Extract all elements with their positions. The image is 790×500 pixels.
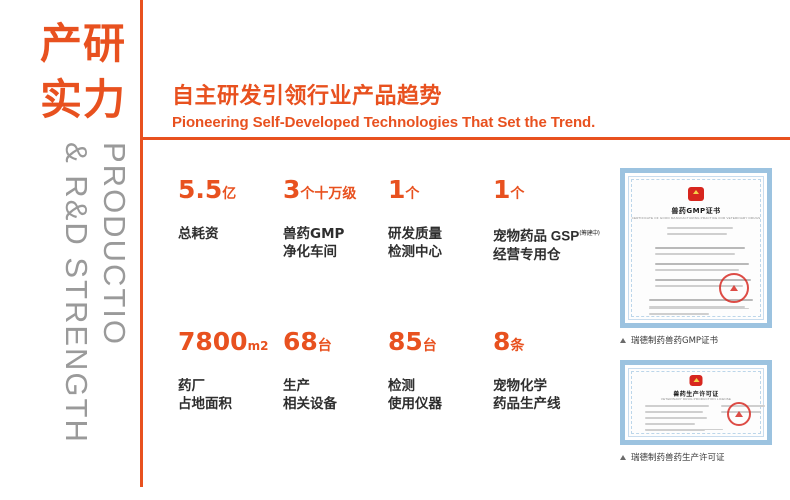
certificate-text-line bbox=[667, 227, 733, 229]
stat-label: 生产 相关设备 bbox=[283, 377, 388, 413]
national-emblem-icon bbox=[688, 187, 704, 201]
certificate-text-line bbox=[667, 233, 727, 235]
section-title-line1: 产研 bbox=[40, 16, 140, 72]
certificate-caption: 瑞德制药兽药生产许可证 bbox=[620, 451, 775, 463]
rail-vertical-divider bbox=[140, 0, 143, 487]
stat-label-line1: 兽药GMP bbox=[283, 225, 388, 243]
stat-label: 研发质量 检测中心 bbox=[388, 225, 493, 261]
triangle-marker-icon bbox=[620, 455, 626, 460]
stat-label-line2: 相关设备 bbox=[283, 395, 388, 413]
stat-item: 68台 生产 相关设备 bbox=[283, 328, 388, 413]
certificate-text-line bbox=[645, 405, 709, 407]
vertical-text-group: PRODUCTIO & R&D STRENGTH bbox=[0, 140, 140, 490]
section-title-line2: 实力 bbox=[40, 72, 140, 128]
stat-number: 1个 bbox=[388, 176, 493, 208]
stat-unit: 台 bbox=[318, 338, 332, 354]
stat-label-line1: 宠物化学 bbox=[493, 377, 598, 395]
stat-label: 药厂 占地面积 bbox=[178, 377, 283, 413]
header-divider bbox=[140, 137, 790, 140]
stat-number: 8条 bbox=[493, 328, 598, 360]
vertical-text-primary: PRODUCTIO bbox=[96, 142, 132, 346]
stat-number: 68台 bbox=[283, 328, 388, 360]
stat-label-line1: 研发质量 bbox=[388, 225, 493, 243]
certificate-block: 兽药生产许可证 VETERINARY DRUG PRODUCTION LICEN… bbox=[620, 360, 775, 463]
stat-item: 85台 检测 使用仪器 bbox=[388, 328, 493, 413]
certificate-image-license[interactable]: 兽药生产许可证 VETERINARY DRUG PRODUCTION LICEN… bbox=[620, 360, 772, 445]
national-emblem-icon bbox=[690, 375, 703, 386]
stat-number: 5.5亿 bbox=[178, 176, 283, 208]
certificate-image-gmp[interactable]: 兽药GMP证书 CERTIFICATE OF GOOD MANUFACTURIN… bbox=[620, 168, 772, 328]
stat-unit: 个 bbox=[405, 186, 419, 202]
stats-row-2: 7800m2 药厂 占地面积 68台 生产 相关设备 85台 检测 使用仪器 bbox=[178, 328, 598, 413]
stat-label-line2: 占地面积 bbox=[178, 395, 283, 413]
stat-item: 1个 宠物药品 GSP(筹建中) 经营专用仓 bbox=[493, 176, 598, 264]
section-title: 产研 实力 bbox=[40, 16, 140, 128]
official-seal-icon bbox=[719, 273, 749, 303]
stat-item: 7800m2 药厂 占地面积 bbox=[178, 328, 283, 413]
certificate-frame: 兽药GMP证书 CERTIFICATE OF GOOD MANUFACTURIN… bbox=[628, 176, 764, 320]
certificate-caption-text: 瑞德制药兽药GMP证书 bbox=[631, 334, 718, 346]
stat-label-superscript: (筹建中) bbox=[579, 230, 599, 237]
certificate-text-line bbox=[655, 263, 749, 265]
certificate-text-line bbox=[645, 417, 707, 419]
stat-item: 3个十万级 兽药GMP 净化车间 bbox=[283, 176, 388, 264]
stat-label-line2: 净化车间 bbox=[283, 243, 388, 261]
stat-label: 总耗资 bbox=[178, 225, 283, 243]
certificate-doc-subtitle: VETERINARY DRUG PRODUCTION LICENSE bbox=[629, 397, 763, 401]
certificate-frame: 兽药生产许可证 VETERINARY DRUG PRODUCTION LICEN… bbox=[628, 368, 764, 437]
certificate-gallery: 兽药GMP证书 CERTIFICATE OF GOOD MANUFACTURIN… bbox=[620, 168, 775, 477]
certificate-caption: 瑞德制药兽药GMP证书 bbox=[620, 334, 775, 346]
stat-label-line1: 宠物药品 GSP(筹建中) bbox=[493, 225, 598, 246]
certificate-text-line bbox=[645, 411, 703, 413]
header-title-cn: 自主研发引领行业产品趋势 bbox=[172, 84, 595, 110]
certificate-text-line bbox=[645, 429, 723, 431]
certificate-text-line bbox=[655, 269, 739, 271]
stat-label-line2: 使用仪器 bbox=[388, 395, 493, 413]
stat-item: 5.5亿 总耗资 bbox=[178, 176, 283, 264]
stat-number: 85台 bbox=[388, 328, 493, 360]
stat-label-line1: 药厂 bbox=[178, 377, 283, 395]
stat-label-line1: 总耗资 bbox=[178, 225, 283, 243]
certificate-doc-subtitle: CERTIFICATE OF GOOD MANUFACTURING PRACTI… bbox=[629, 216, 763, 220]
stat-unit: 个 bbox=[510, 186, 524, 202]
stat-label: 检测 使用仪器 bbox=[388, 377, 493, 413]
certificate-text-line bbox=[655, 253, 735, 255]
stat-unit: 个十万级 bbox=[300, 186, 356, 202]
stat-unit: 台 bbox=[423, 338, 437, 354]
triangle-marker-icon bbox=[620, 338, 626, 343]
stat-number: 3个十万级 bbox=[283, 176, 388, 208]
stats-grid: 5.5亿 总耗资 3个十万级 兽药GMP 净化车间 1个 研发质量 检测中心 bbox=[178, 176, 598, 413]
stat-unit: 条 bbox=[510, 338, 524, 354]
stat-label: 兽药GMP 净化车间 bbox=[283, 225, 388, 261]
stat-unit: 亿 bbox=[222, 186, 236, 202]
certificate-doc-title: 兽药GMP证书 bbox=[629, 206, 763, 216]
header-block: 自主研发引领行业产品趋势 Pioneering Self-Developed T… bbox=[172, 84, 595, 133]
stat-label-line2: 检测中心 bbox=[388, 243, 493, 261]
stats-row-1: 5.5亿 总耗资 3个十万级 兽药GMP 净化车间 1个 研发质量 检测中心 bbox=[178, 176, 598, 264]
certificate-caption-text: 瑞德制药兽药生产许可证 bbox=[631, 451, 725, 463]
stat-label: 宠物药品 GSP(筹建中) 经营专用仓 bbox=[493, 225, 598, 264]
stat-label: 宠物化学 药品生产线 bbox=[493, 377, 598, 413]
page-root: 产研 实力 PRODUCTIO & R&D STRENGTH 自主研发引领行业产… bbox=[0, 0, 790, 500]
stat-label-line1: 检测 bbox=[388, 377, 493, 395]
vertical-text-secondary: & R&D STRENGTH bbox=[58, 142, 94, 444]
stat-label-line2: 药品生产线 bbox=[493, 395, 598, 413]
stat-number: 1个 bbox=[493, 176, 598, 208]
stat-item: 8条 宠物化学 药品生产线 bbox=[493, 328, 598, 413]
stat-item: 1个 研发质量 检测中心 bbox=[388, 176, 493, 264]
official-seal-icon bbox=[727, 402, 751, 426]
certificate-text-line bbox=[645, 423, 695, 425]
stat-label-line2: 经营专用仓 bbox=[493, 246, 598, 264]
stat-unit: m2 bbox=[248, 339, 269, 353]
certificate-text-line bbox=[649, 313, 709, 315]
stat-number: 7800m2 bbox=[178, 328, 283, 360]
certificate-text-line bbox=[655, 247, 745, 249]
header-title-en: Pioneering Self-Developed Technologies T… bbox=[172, 113, 595, 133]
certificate-text-line bbox=[649, 308, 749, 310]
certificate-block: 兽药GMP证书 CERTIFICATE OF GOOD MANUFACTURIN… bbox=[620, 168, 775, 346]
stat-label-line1: 生产 bbox=[283, 377, 388, 395]
